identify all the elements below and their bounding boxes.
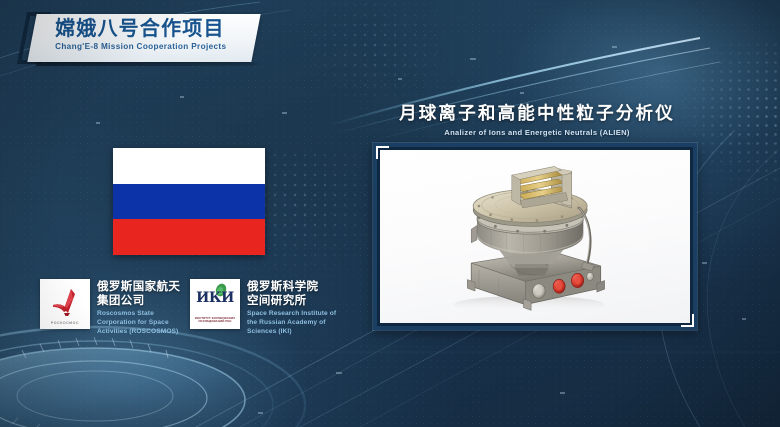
panel-corner-bottom-right: [681, 314, 694, 327]
roscosmos-name-cn-line2: 集团公司: [97, 293, 193, 307]
panel-corner-top-left: [376, 146, 389, 159]
instrument-name-chinese: 月球离子和高能中性粒子分析仪: [380, 100, 694, 125]
iki-name-en: Space Research Institute of the Russian …: [247, 309, 339, 336]
flag-stripe-white: [113, 148, 265, 184]
flag-stripe-blue: [113, 184, 265, 220]
instrument-illustration: [380, 150, 690, 323]
page-title-english: Chang'E-8 Mission Cooperation Projects: [55, 42, 257, 51]
instrument-photo-panel: [373, 143, 697, 330]
iki-name-cn-line2: 空间研究所: [247, 293, 339, 307]
roscosmos-name-cn-line1: 俄罗斯国家航天: [97, 279, 193, 293]
russia-flag: [113, 148, 265, 255]
iki-sublabel: ИНСТИТУТ КОСМИЧЕСКИХ ИССЛЕДОВАНИЙ РАН: [190, 317, 240, 324]
iki-logo: ИКИ ИНСТИТУТ КОСМИЧЕСКИХ ИССЛЕДОВАНИЙ РА…: [190, 279, 240, 329]
instrument-heading: 月球离子和高能中性粒子分析仪 Analizer of Ions and Ener…: [380, 100, 694, 137]
organization-iki: ИКИ ИНСТИТУТ КОСМИЧЕСКИХ ИССЛЕДОВАНИЙ РА…: [190, 279, 339, 336]
instrument-name-english: Analizer of Ions and Energetic Neutrals …: [380, 128, 694, 137]
banner-shadow-decoration: [36, 62, 259, 66]
organization-roscosmos: РОСКОСМОС 俄罗斯国家航天 集团公司 Roscosmos State C…: [40, 279, 193, 336]
slide-title-banner: 嫦娥八号合作项目 Chang'E-8 Mission Cooperation P…: [27, 14, 260, 62]
iki-letters: ИКИ: [190, 290, 240, 306]
flag-stripe-red: [113, 219, 265, 255]
instrument-photo: [380, 150, 690, 323]
roscosmos-wordmark: РОСКОСМОС: [40, 321, 90, 325]
iki-name-cn-line1: 俄罗斯科学院: [247, 279, 339, 293]
roscosmos-logo: РОСКОСМОС: [40, 279, 90, 329]
roscosmos-name-en: Roscosmos State Corporation for Space Ac…: [97, 309, 193, 336]
presentation-slide: 嫦娥八号合作项目 Chang'E-8 Mission Cooperation P…: [0, 0, 780, 427]
page-title-chinese: 嫦娥八号合作项目: [55, 17, 257, 40]
